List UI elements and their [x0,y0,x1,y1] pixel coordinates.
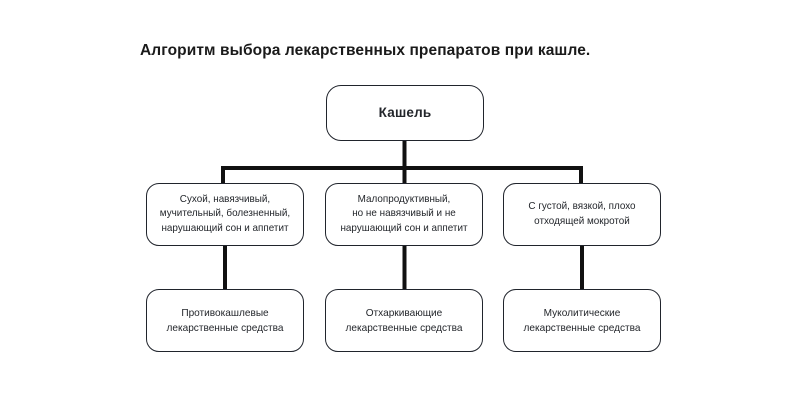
node-root-label: Кашель [327,105,483,121]
node-cough-dry-label: Сухой, навязчивый, мучительный, болезнен… [150,193,300,237]
node-cough-unproductive-label: Малопродуктивный, но не навязчивый и не … [329,193,479,237]
node-cough-unproductive[interactable]: Малопродуктивный, но не навязчивый и не … [325,183,483,246]
node-drug-mucolytic-label: Муколитические лекарственные средства [507,306,657,335]
node-drug-mucolytic[interactable]: Муколитические лекарственные средства [503,289,661,352]
node-drug-antitussive-label: Противокашлевые лекарственные средства [150,306,300,335]
node-drug-expectorant[interactable]: Отхаркивающие лекарственные средства [325,289,483,352]
node-cough-viscous-sputum-label: С густой, вязкой, плохо отходящей мокрот… [507,200,657,229]
node-drug-expectorant-label: Отхаркивающие лекарственные средства [329,306,479,335]
diagram-canvas: Алгоритм выбора лекарственных препаратов… [0,0,807,409]
node-drug-antitussive[interactable]: Противокашлевые лекарственные средства [146,289,304,352]
node-root-cough[interactable]: Кашель [326,85,484,141]
node-cough-viscous-sputum[interactable]: С густой, вязкой, плохо отходящей мокрот… [503,183,661,246]
node-cough-dry[interactable]: Сухой, навязчивый, мучительный, болезнен… [146,183,304,246]
